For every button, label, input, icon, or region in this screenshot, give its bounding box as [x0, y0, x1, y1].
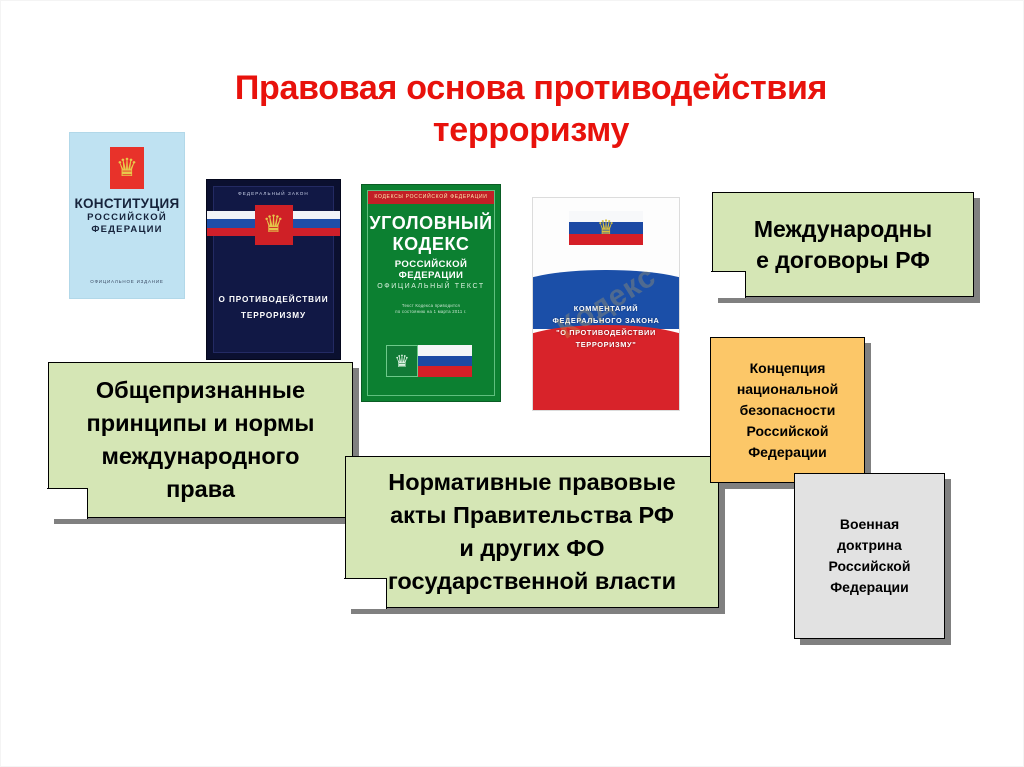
- banner-normative-acts[interactable]: Нормативные правовые акты Правительства …: [345, 456, 719, 608]
- banner-military-doctrine[interactable]: Военная доктрина Российской Федерации: [794, 473, 945, 639]
- russian-flag-icon: [418, 345, 472, 377]
- eagle-glyph: ♛: [263, 213, 285, 237]
- folded-corner-edge-top: [711, 271, 746, 272]
- banner-label: Нормативные правовые акты Правительства …: [378, 466, 686, 598]
- banner-international-treaties[interactable]: Международны е договоры РФ: [712, 192, 974, 297]
- coat-of-arms-icon: ♛: [110, 147, 144, 189]
- book-constitution-footer: ОФИЦИАЛЬНОЕ ИЗДАНИЕ: [70, 279, 184, 284]
- book-cover-commentary: ♛ КОММЕНТАРИЙ ФЕДЕРАЛЬНОГО ЗАКОНА "О ПРО…: [532, 197, 680, 411]
- banner-label: Международны е договоры РФ: [744, 214, 942, 276]
- book-commentary-title: КОММЕНТАРИЙ ФЕДЕРАЛЬНОГО ЗАКОНА "О ПРОТИ…: [541, 303, 671, 351]
- banner-general-principles[interactable]: Общепризнанные принципы и нормы междунар…: [48, 362, 353, 518]
- folded-corner: [711, 272, 745, 298]
- banner-label: Концепция национальной безопасности Росс…: [727, 358, 848, 463]
- book-federal-law-title: О ПРОТИВОДЕЙСТВИИ ТЕРРОРИЗМУ: [211, 292, 336, 324]
- banner-label: Общепризнанные принципы и нормы междунар…: [77, 374, 325, 506]
- book-criminal-code-title: УГОЛОВНЫЙ КОДЕКС: [362, 213, 500, 255]
- eagle-glyph: ♛: [386, 345, 418, 377]
- book-criminal-code-header: КОДЕКСЫ РОССИЙСКОЙ ФЕДЕРАЦИИ: [367, 190, 495, 204]
- slide-canvas: Правовая основа противодействия террориз…: [0, 0, 1024, 767]
- eagle-glyph: ♛: [116, 156, 138, 181]
- book-federal-law-header: ФЕДЕРАЛЬНЫЙ ЗАКОН: [207, 191, 340, 196]
- russian-flag-icon: ♛: [569, 211, 643, 245]
- book-cover-constitution: ♛ КОНСТИТУЦИЯ РОССИЙСКОЙ ФЕДЕРАЦИИ ОФИЦИ…: [69, 132, 185, 299]
- banner-security-concept[interactable]: Концепция национальной безопасности Росс…: [710, 337, 865, 483]
- book-cover-criminal-code: КОДЕКСЫ РОССИЙСКОЙ ФЕДЕРАЦИИ УГОЛОВНЫЙ К…: [361, 184, 501, 402]
- banner-label: Военная доктрина Российской Федерации: [819, 514, 921, 598]
- book-criminal-code-fineprint: Текст Кодекса приводится по состоянию на…: [362, 303, 500, 315]
- book-criminal-code-note: ОФИЦИАЛЬНЫЙ ТЕКСТ: [362, 283, 500, 290]
- coat-of-arms-icon: ♛: [255, 205, 293, 245]
- book-constitution-title: КОНСТИТУЦИЯ: [70, 196, 184, 211]
- book-cover-federal-law: ФЕДЕРАЛЬНЫЙ ЗАКОН ♛ О ПРОТИВОДЕЙСТВИИ ТЕ…: [206, 179, 341, 360]
- book-criminal-code-subtitle: РОССИЙСКОЙ ФЕДЕРАЦИИ: [362, 259, 500, 281]
- book-constitution-subtitle: РОССИЙСКОЙ ФЕДЕРАЦИИ: [70, 212, 184, 236]
- eagle-glyph: ♛: [597, 218, 615, 238]
- flag-emblem-icon: ♛: [386, 345, 472, 377]
- page-title: Правовая основа противодействия террориз…: [151, 67, 911, 151]
